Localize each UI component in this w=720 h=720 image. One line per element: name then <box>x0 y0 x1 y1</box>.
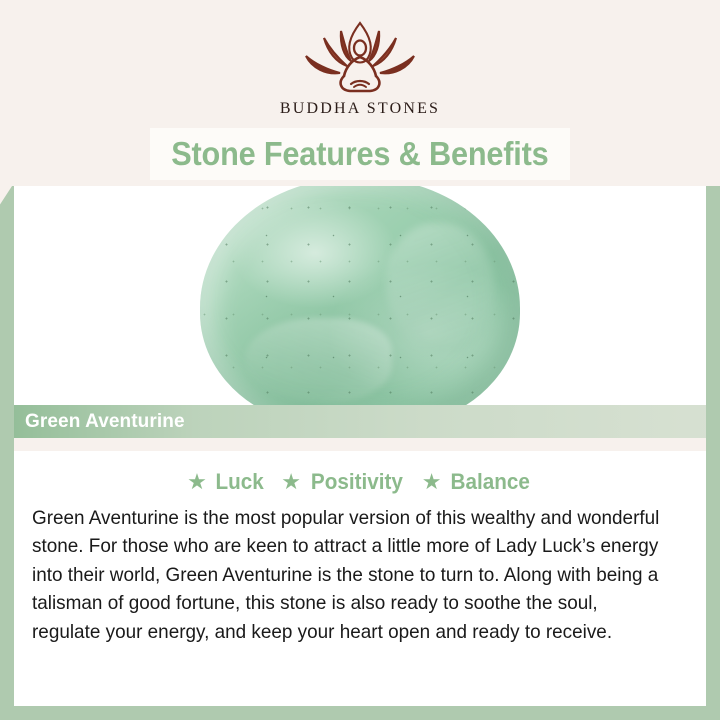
page-title: Stone Features & Benefits <box>171 135 548 173</box>
star-icon: ★ <box>187 471 207 493</box>
poster-header: BUDDHA STONES Stone Features & Benefits <box>0 0 720 186</box>
stone-name-bar: Green Aventurine <box>14 405 706 438</box>
green-aventurine-stone-image <box>200 186 520 405</box>
benefit-item: ★ Luck <box>187 469 265 495</box>
benefit-label: Positivity <box>311 469 403 495</box>
benefit-label: Balance <box>451 469 530 495</box>
stone-info-poster: BUDDHA STONES Stone Features & Benefits … <box>0 0 720 720</box>
stone-photo <box>14 186 706 405</box>
benefit-item: ★ Positivity <box>281 469 406 495</box>
lotus-meditation-logo-icon <box>280 18 440 96</box>
benefit-item: ★ Balance <box>422 469 533 495</box>
stone-speckle-texture <box>200 186 520 405</box>
frame-left-accent <box>0 183 14 720</box>
star-icon: ★ <box>422 471 442 493</box>
divider-strip <box>14 438 706 451</box>
brand-logo <box>0 18 720 101</box>
title-banner: Stone Features & Benefits <box>150 128 570 180</box>
stone-name-label: Green Aventurine <box>14 411 185 433</box>
star-icon: ★ <box>281 471 301 493</box>
benefits-row: ★ Luck ★ Positivity ★ Balance <box>14 451 706 495</box>
brand-name: BUDDHA STONES <box>0 100 720 118</box>
description-panel: ★ Luck ★ Positivity ★ Balance Green Aven… <box>14 451 706 706</box>
stone-description-text: Green Aventurine is the most popular ver… <box>32 504 670 646</box>
frame-bottom-accent <box>0 706 720 720</box>
benefit-label: Luck <box>215 469 263 495</box>
